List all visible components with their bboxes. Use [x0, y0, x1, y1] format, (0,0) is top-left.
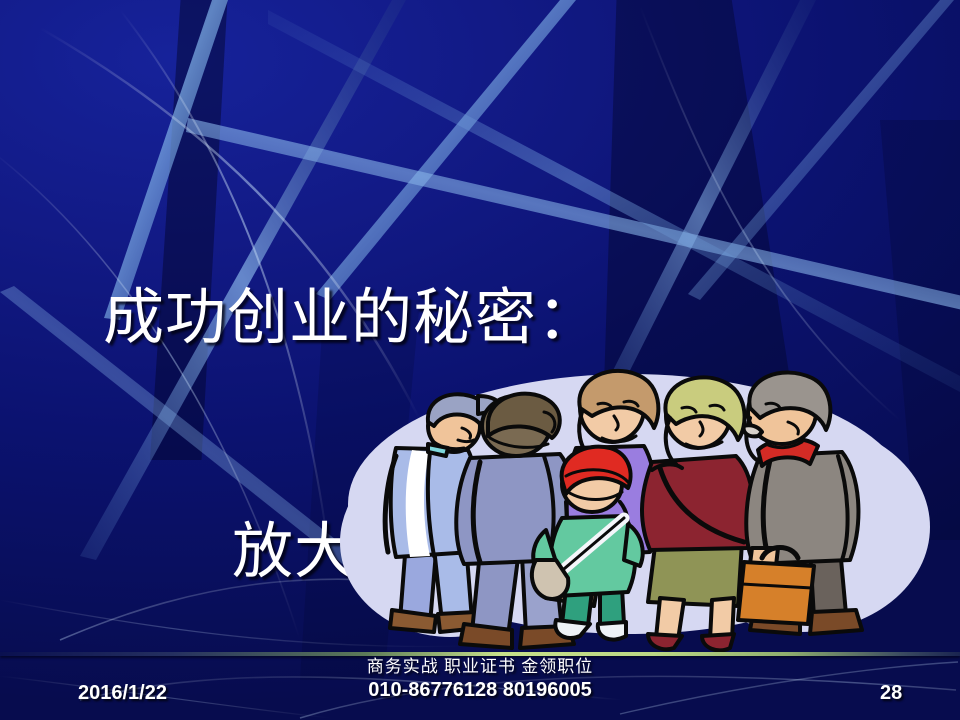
title-line-1: 成功创业的秘密：: [0, 280, 960, 358]
footer-date: 2016/1/22: [78, 682, 167, 705]
footer-company-tagline: 商务实战 职业证书 金领职位: [0, 656, 960, 678]
group-of-people-illustration: [330, 352, 930, 660]
presentation-slide: 成功创业的秘密： 放大自身资源，创造他 人利益，寻求匹配机会。: [0, 0, 960, 720]
footer-page-number: 28: [880, 682, 902, 705]
